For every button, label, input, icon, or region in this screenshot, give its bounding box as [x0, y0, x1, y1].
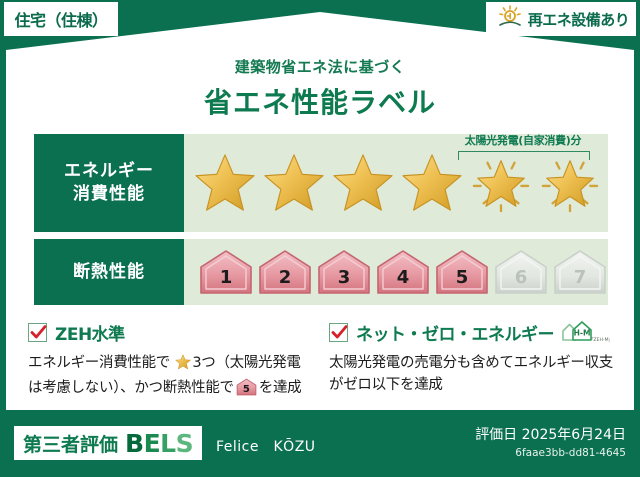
bels-letter-s: S: [176, 429, 194, 458]
achievement-net-zero-title: ネット・ゼロ・エネルギー: [356, 320, 554, 345]
achievement-zeh-body: エネルギー消費性能で 3つ（太陽光発電 は考慮しない）、かつ断熱性能で 5 を達…: [28, 352, 313, 400]
sun-icon: [497, 5, 523, 33]
building-type-tag: 住宅（住棟）: [4, 2, 118, 36]
achievement-zeh-title: ZEH水準: [55, 320, 125, 345]
checkbox-checked-icon: [329, 323, 348, 342]
bels-logo: BELS: [125, 431, 193, 456]
insulation-level-value: 3: [338, 269, 351, 296]
insulation-level-2: 2: [257, 248, 313, 296]
building-type-label: 住宅（住棟）: [14, 7, 107, 31]
evaluation-date: 評価日 2025年6月24日: [475, 424, 626, 444]
insulation-levels-area: 1 2 3: [184, 239, 608, 305]
page-title: 建築物省エネ法に基づく 省エネ性能ラベル: [0, 56, 640, 121]
insulation-level-3: 3: [316, 248, 372, 296]
inline-house-badge-icon: 5: [236, 378, 257, 396]
star-5-solar: [466, 134, 535, 232]
renewable-tag-label: 再エネ設備あり: [528, 9, 630, 30]
star-2: [259, 134, 328, 232]
solar-bracket-label: 太陽光発電(自家消費)分: [442, 132, 604, 148]
title-main: 省エネ性能ラベル: [0, 81, 640, 121]
achievement-net-zero-body: 太陽光発電の売電分も含めてエネルギー収支がゼロ以下を達成: [329, 352, 614, 397]
solar-bracket-line: [458, 151, 590, 160]
bels-letter-b: B: [125, 429, 144, 458]
insulation-level-6: 6: [493, 248, 549, 296]
bels-letter-l: L: [160, 429, 175, 458]
rating-table: エネルギー 消費性能: [34, 134, 608, 312]
star-1: [190, 134, 259, 232]
footer: 第三者評価 BELS Felice KŌZU 評価日 2025年6月24日 6f…: [0, 410, 640, 477]
insulation-level-value: 2: [279, 269, 292, 296]
achievement-zeh-header: ZEH水準: [28, 320, 313, 344]
building-name: Felice KŌZU: [216, 436, 316, 456]
insulation-level-1: 1: [198, 248, 254, 296]
zeh-m-logo-icon: H-M 「ZEH-M」: [560, 319, 610, 345]
insulation-level-value: 4: [397, 269, 410, 296]
zeh-body-star-count: 3つ（太陽光発電: [192, 355, 300, 371]
star-3: [328, 134, 397, 232]
insulation-level-value: 1: [220, 269, 233, 296]
inline-house-value: 5: [236, 385, 257, 395]
evaluation-date-value: 2025年6月24日: [522, 427, 626, 443]
inline-star-icon: [171, 358, 191, 374]
insulation-level-value: 7: [574, 269, 587, 296]
insulation-performance-label: 断熱性能: [34, 239, 184, 305]
evaluation-date-label: 評価日: [475, 427, 517, 443]
checkbox-checked-icon: [28, 323, 47, 342]
achievement-zeh: ZEH水準 エネルギー消費性能で 3つ（太陽光発電 は考慮しない）、かつ断熱性能…: [28, 320, 313, 400]
star-rating: [184, 134, 604, 232]
achievement-net-zero: ネット・ゼロ・エネルギー H-M 「ZEH-M」 太陽光発電の売電分も含めてエネ…: [329, 320, 614, 400]
renewable-equipment-tag: 再エネ設備あり: [486, 2, 636, 36]
insulation-level-scale: 1 2 3: [184, 239, 608, 305]
svg-text:「ZEH-M」: 「ZEH-M」: [589, 337, 610, 343]
bels-certification-box: 第三者評価 BELS: [14, 426, 202, 460]
energy-performance-label: 住宅（住棟） 再エネ設備あり 建築物省エネ法に基づく 省エネ性能ラベル: [0, 0, 640, 477]
zeh-body-part2: は考慮しない）、かつ断熱性能で: [28, 380, 234, 396]
insulation-level-value: 6: [515, 269, 528, 296]
svg-text:H-M: H-M: [574, 329, 591, 338]
star-6-solar: [535, 134, 604, 232]
evaluation-id: 6faae3bb-dd81-4645: [475, 447, 626, 459]
achievement-net-zero-header: ネット・ゼロ・エネルギー H-M 「ZEH-M」: [329, 320, 614, 344]
energy-performance-label: エネルギー 消費性能: [34, 134, 184, 232]
star-4: [397, 134, 466, 232]
bels-letter-e: E: [144, 429, 161, 458]
energy-performance-row: エネルギー 消費性能: [34, 134, 608, 232]
insulation-level-4: 4: [375, 248, 431, 296]
energy-stars-area: 太陽光発電(自家消費)分: [184, 134, 608, 232]
zeh-body-part3: を達成: [259, 380, 302, 396]
title-subtitle: 建築物省エネ法に基づく: [0, 56, 640, 77]
insulation-level-7: 7: [552, 248, 608, 296]
evaluation-info: 評価日 2025年6月24日 6faae3bb-dd81-4645: [475, 424, 626, 459]
zeh-body-part1: エネルギー消費性能で: [28, 355, 170, 371]
achievements-section: ZEH水準 エネルギー消費性能で 3つ（太陽光発電 は考慮しない）、かつ断熱性能…: [28, 320, 614, 400]
insulation-performance-row: 断熱性能: [34, 239, 608, 305]
insulation-level-5: 5: [434, 248, 490, 296]
third-party-eval-label: 第三者評価: [23, 430, 118, 457]
insulation-level-value: 5: [456, 269, 469, 296]
